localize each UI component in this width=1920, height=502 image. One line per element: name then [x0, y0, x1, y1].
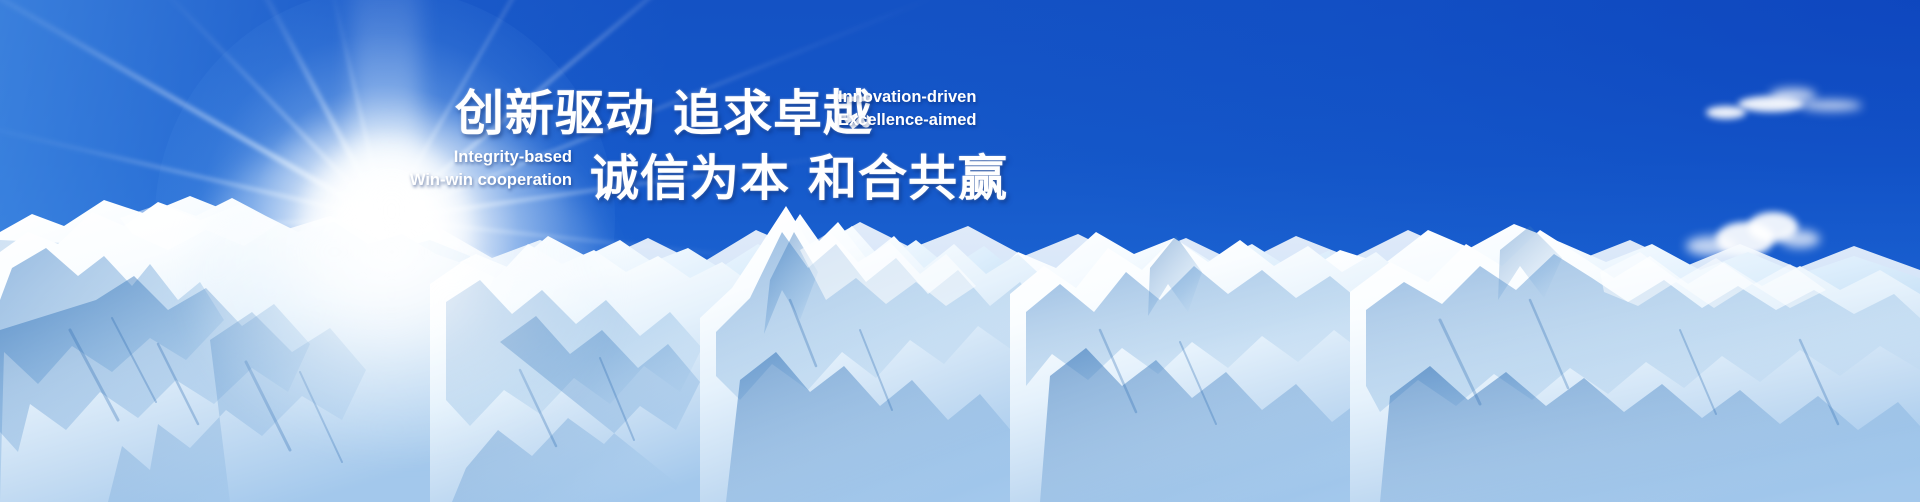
subtitle-left-line-2: Win-win cooperation — [410, 169, 572, 192]
subtitle-left: Integrity-based Win-win cooperation — [410, 146, 572, 193]
subtitle-right-line-1: Innovation-driven — [838, 86, 977, 109]
banner-text-layer: 创新驱动 追求卓越 诚信为本 和合共赢 Innovation-driven Ex… — [0, 0, 1920, 502]
hero-banner: 创新驱动 追求卓越 诚信为本 和合共赢 Innovation-driven Ex… — [0, 0, 1920, 502]
headline-chinese-line-2: 诚信为本 和合共赢 — [590, 139, 1008, 210]
subtitle-right: Innovation-driven Excellence-aimed — [838, 86, 977, 133]
subtitle-right-line-2: Excellence-aimed — [838, 109, 977, 132]
subtitle-left-line-1: Integrity-based — [410, 146, 572, 169]
headline-chinese-line-1: 创新驱动 追求卓越 — [455, 74, 873, 145]
